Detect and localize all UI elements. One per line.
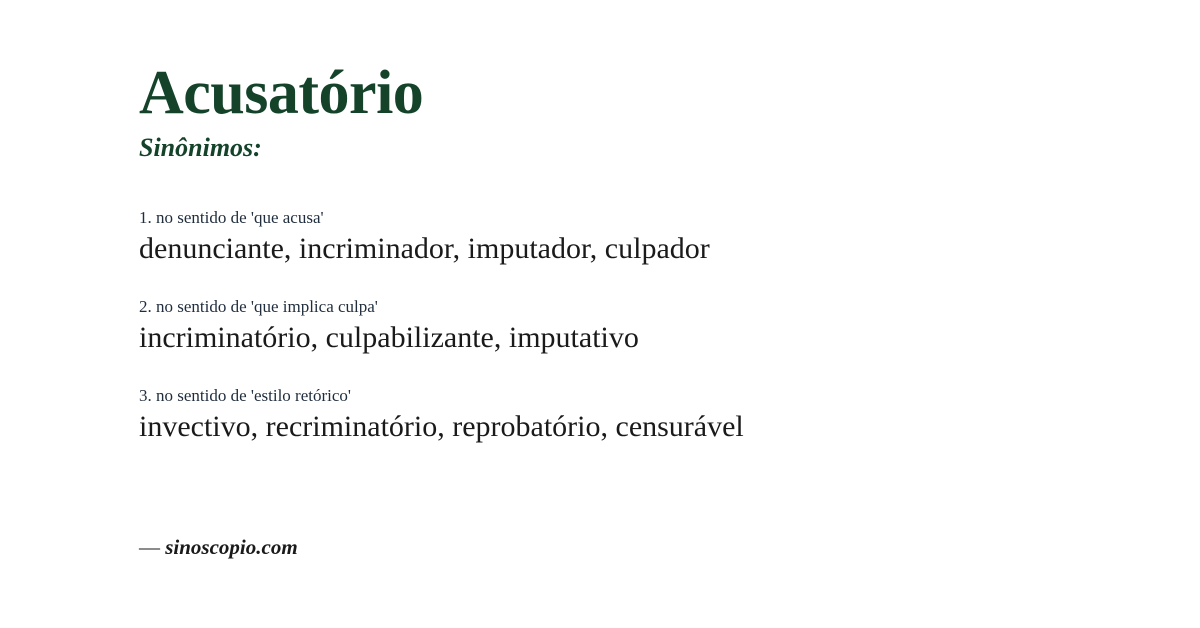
sense-synonyms: invectivo, recriminatório, reprobatório,… [139,409,1139,445]
sense-entry: 1. no sentido de 'que acusa' denunciante… [139,208,1139,267]
sense-label: 1. no sentido de 'que acusa' [139,208,1139,228]
sense-synonyms: incriminatório, culpabilizante, imputati… [139,320,1139,356]
sense-synonyms: denunciante, incriminador, imputador, cu… [139,231,1139,267]
sense-entry: 3. no sentido de 'estilo retórico' invec… [139,386,1139,445]
sense-label: 2. no sentido de 'que implica culpa' [139,297,1139,317]
source-attribution: — sinoscopio.com [139,534,298,560]
page-title: Acusatório [139,62,423,124]
source-name: sinoscopio.com [165,535,297,559]
synonym-card: Acusatório Sinônimos: 1. no sentido de '… [0,0,1200,628]
em-dash: — [139,535,160,559]
sense-entry: 2. no sentido de 'que implica culpa' inc… [139,297,1139,356]
sense-label: 3. no sentido de 'estilo retórico' [139,386,1139,406]
sense-list: 1. no sentido de 'que acusa' denunciante… [139,208,1139,445]
subtitle-synonyms: Sinônimos: [139,134,262,162]
